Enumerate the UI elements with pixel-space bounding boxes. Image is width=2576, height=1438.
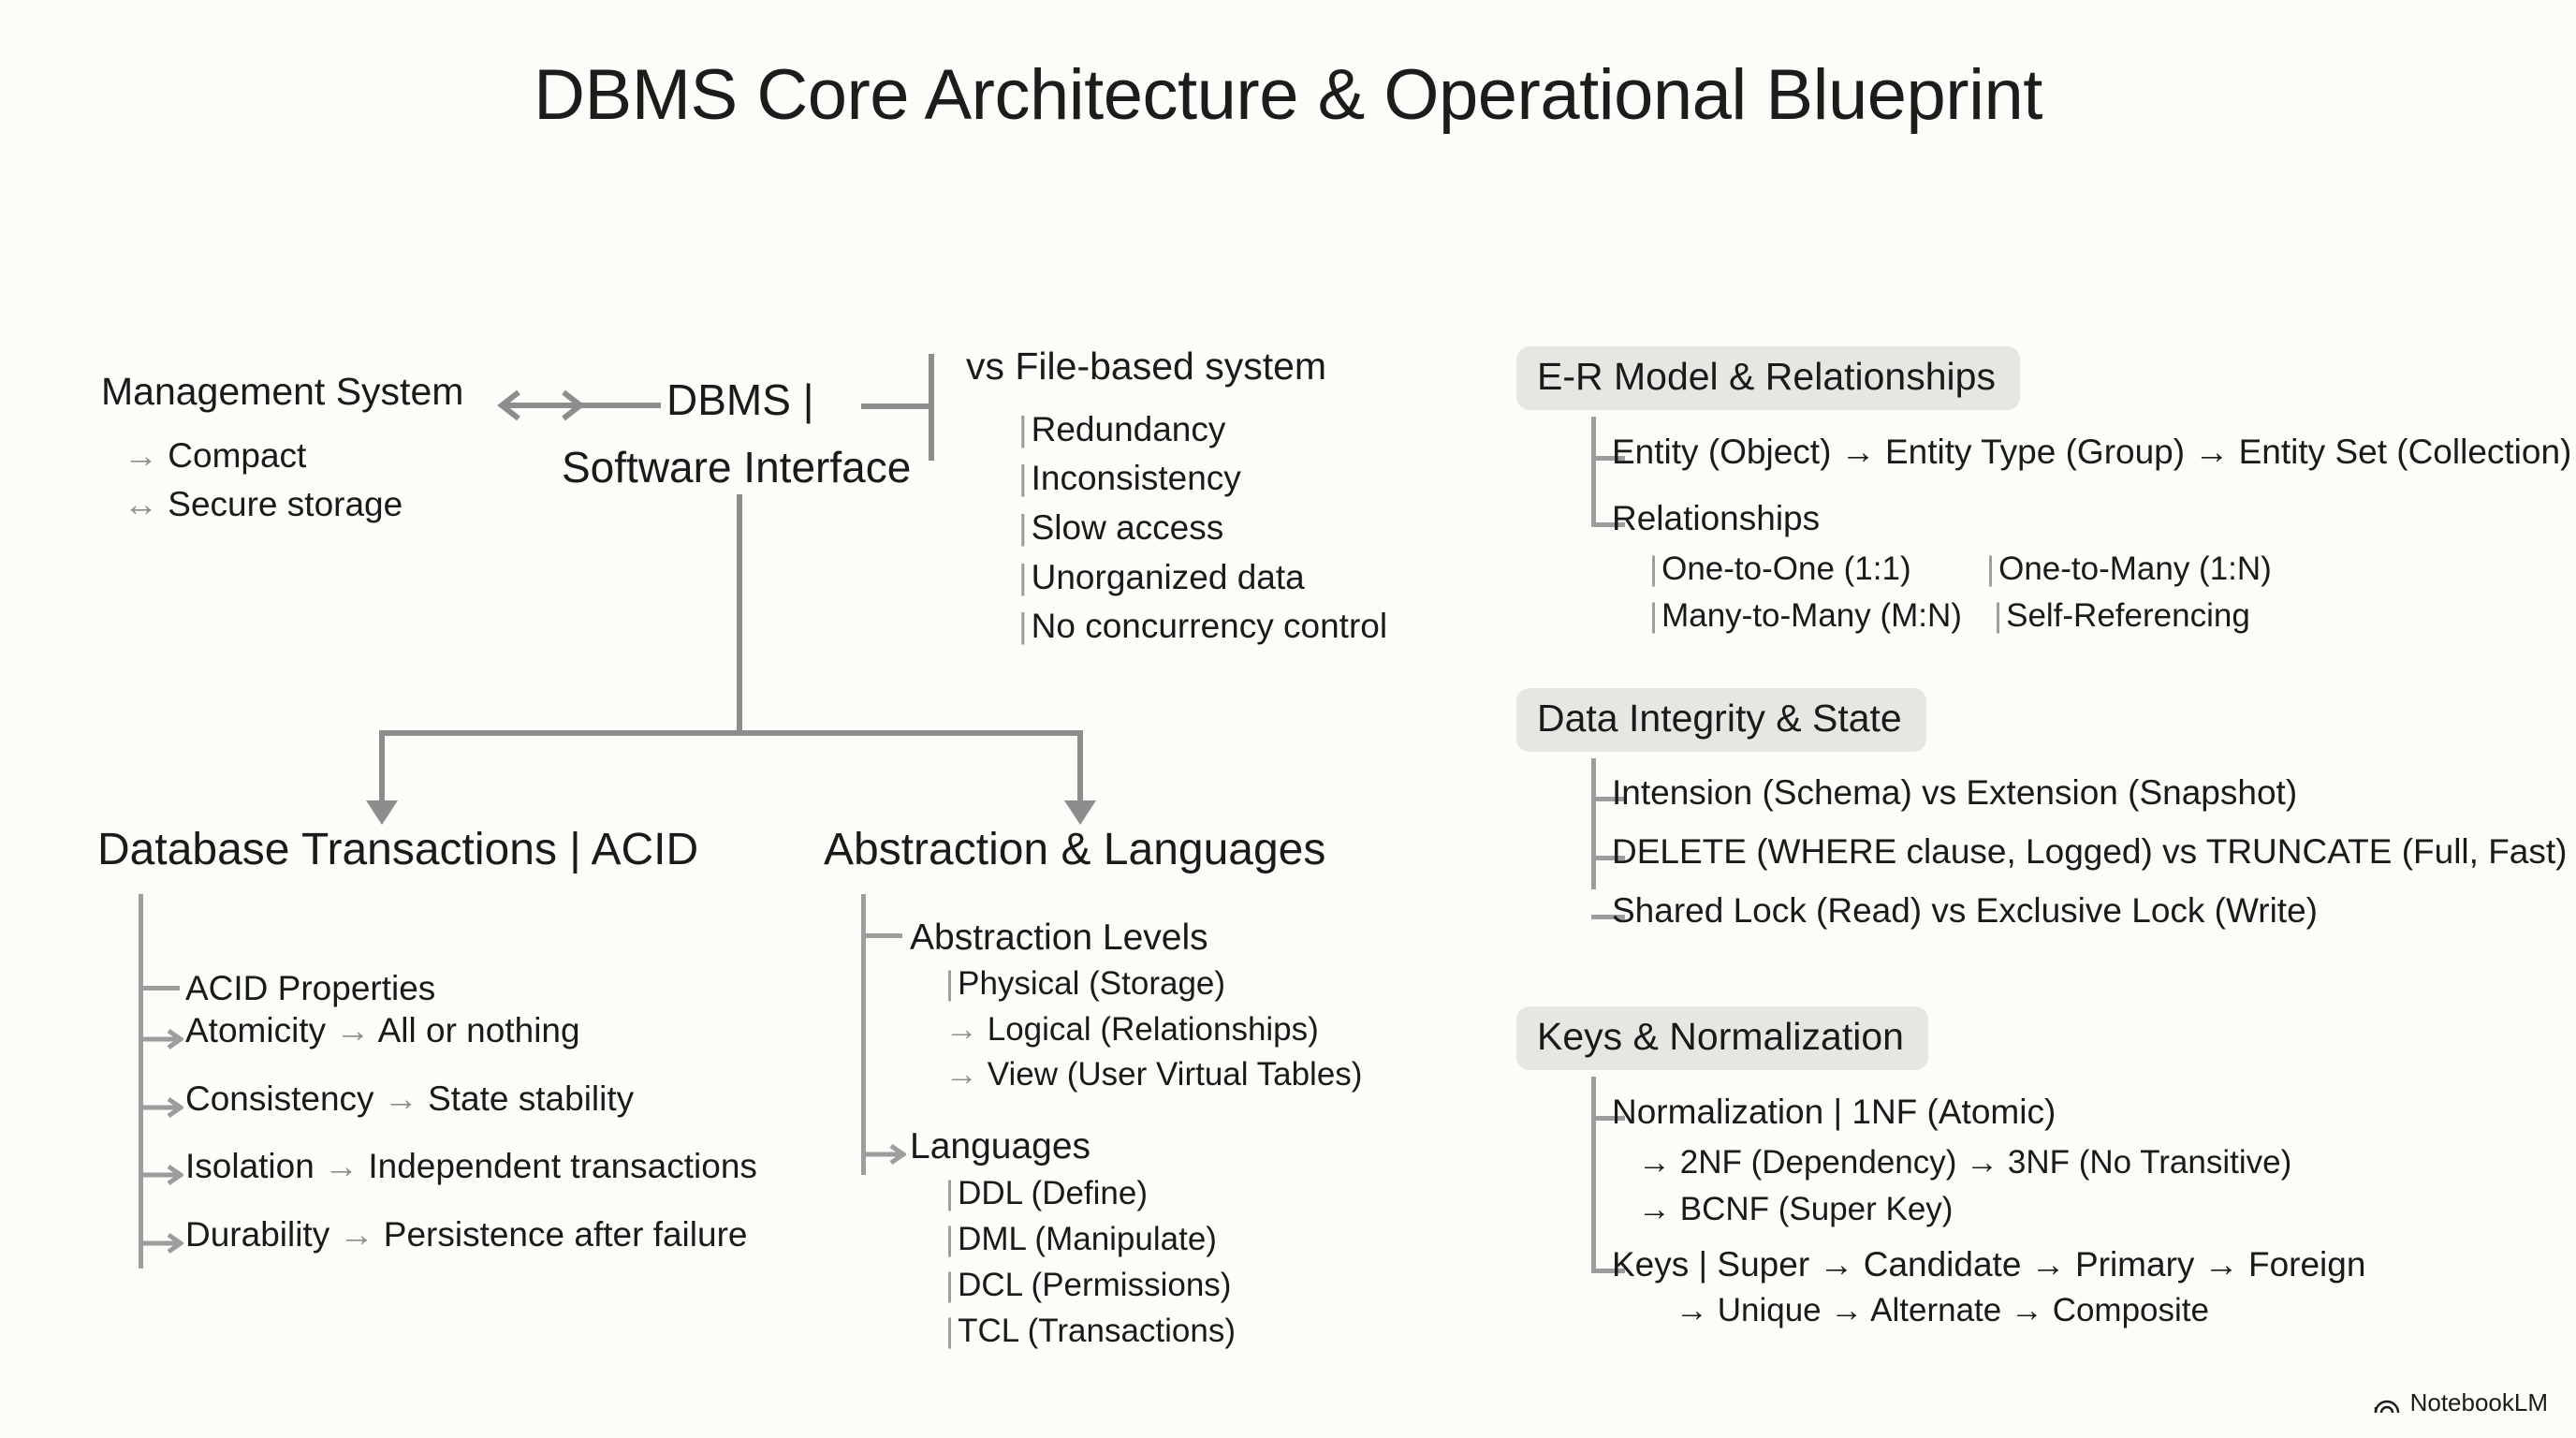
language-item: |TCL (Transactions) [945,1313,1236,1350]
root-node-line-2: Software Interface [562,442,911,492]
normalization-heading: Normalization | 1NF (Atomic) [1612,1093,2056,1132]
er-relationship-label: One-to-One (1:1) [1661,550,1911,587]
vs-file-item: |No concurrency control [1018,607,1387,646]
arrow-right-icon: → [384,1079,418,1118]
notebooklm-logo: NotebookLM [2373,1388,2548,1417]
pipe-marker-icon: | [945,965,958,1002]
branch-arrow-icon [861,1143,906,1170]
keys-normalization-chip: Keys & Normalization [1516,1006,1928,1070]
abstraction-level-label: Logical (Relationships) [988,1011,1319,1048]
pipe-marker-icon: | [1018,459,1032,497]
language-label: DDL (Define) [958,1175,1148,1211]
language-label: TCL (Transactions) [958,1313,1236,1349]
data-integrity-chip: Data Integrity & State [1516,688,1926,752]
bidirectional-arrow-icon [490,389,661,422]
acid-row: Isolation → Independent transactions [185,1147,757,1186]
acid-row-label: Consistency [185,1079,374,1118]
keys-tree-spine [1591,1077,1596,1269]
arrow-right-icon: → [324,1147,359,1185]
vs-file-item: |Unorganized data [1018,558,1305,597]
abstraction-level-label: Physical (Storage) [958,965,1225,1002]
acid-row-value: Independent transactions [368,1147,757,1185]
data-integrity-row: Shared Lock (Read) vs Exclusive Lock (Wr… [1612,891,2318,931]
page-title: DBMS Core Architecture & Operational Blu… [0,54,2576,136]
management-item-secure-storage: ↔ Secure storage [124,485,402,524]
vs-file-item-label: Unorganized data [1032,558,1305,596]
arrow-right-icon: → [335,1011,370,1049]
language-item: |DCL (Permissions) [945,1267,1231,1304]
data-integrity-tree-spine [1591,758,1596,889]
abstraction-level-label: View (User Virtual Tables) [988,1056,1363,1093]
arrow-right-icon: → [340,1215,374,1254]
acid-row: Consistency → State stability [185,1079,634,1119]
acid-tree-spine [139,894,143,1269]
pipe-marker-icon: | [1986,550,1998,587]
notebooklm-label: NotebookLM [2410,1388,2548,1417]
management-item-label: Compact [168,436,306,475]
acid-row-label: Durability [185,1215,329,1254]
normalization-sub-row: → BCNF (Super Key) [1638,1191,1953,1228]
pipe-marker-icon: | [945,1221,958,1257]
acid-row: Atomicity → All or nothing [185,1011,580,1050]
er-relationship-item: |One-to-One (1:1) [1649,550,1911,588]
arrow-down-icon [1064,800,1096,825]
arrow-right-icon: → [945,1056,978,1093]
arrow-down-icon [366,800,398,825]
acid-section-title: Database Transactions | ACID [97,824,698,875]
pipe-marker-icon: | [1018,508,1032,547]
vs-file-item: |Slow access [1018,508,1223,548]
er-relationship-label: Self-Referencing [2006,597,2250,634]
languages-heading: Languages [910,1126,1090,1167]
vs-file-item-label: Redundancy [1032,410,1226,448]
pipe-marker-icon: | [1649,597,1661,634]
language-item: |DDL (Define) [945,1175,1148,1212]
er-relationship-item: |One-to-Many (1:N) [1986,550,2272,588]
management-system-title: Management System [101,370,463,414]
abstraction-section-title: Abstraction & Languages [824,824,1325,875]
abstraction-level-item: → Logical (Relationships) [945,1011,1319,1049]
acid-row: ACID Properties [185,969,435,1008]
vs-file-item: |Redundancy [1018,410,1225,449]
pipe-marker-icon: | [945,1175,958,1211]
language-label: DCL (Permissions) [958,1267,1231,1303]
notebooklm-glyph-icon [2373,1391,2401,1416]
connector-down-left [379,730,385,803]
connector-horizontal-split [379,730,1083,736]
data-integrity-row: DELETE (WHERE clause, Logged) vs TRUNCAT… [1612,832,2567,872]
pipe-marker-icon: | [1018,558,1032,596]
branch-arrow-icon [139,1096,183,1123]
abstraction-level-item: → View (User Virtual Tables) [945,1056,1362,1093]
branch-arrow-icon [139,1028,183,1055]
connector-vertical-vs-file [929,354,934,461]
acid-row-label: ACID Properties [185,969,435,1007]
connector-down-right [1077,730,1083,803]
acid-row-value: All or nothing [378,1011,580,1049]
acid-row-label: Atomicity [185,1011,326,1049]
keys-heading: Keys | Super → Candidate → Primary → For… [1612,1245,2365,1284]
pipe-marker-icon: | [1649,550,1661,587]
acid-row-value: Persistence after failure [384,1215,748,1254]
vs-file-item-label: Slow access [1032,508,1224,547]
vs-file-item-label: Inconsistency [1032,459,1241,497]
tree-tick [139,986,180,990]
er-tree-spine [1591,417,1596,524]
pipe-marker-icon: | [945,1267,958,1303]
connector-root-stem [737,494,742,736]
er-relationship-item: |Self-Referencing [1994,597,2250,635]
language-label: DML (Manipulate) [958,1221,1217,1257]
acid-row-label: Isolation [185,1147,315,1185]
branch-arrow-icon [139,1164,183,1191]
acid-row: Durability → Persistence after failure [185,1215,747,1255]
arrow-right-icon: → [124,436,158,475]
acid-row-value: State stability [428,1079,634,1118]
abstraction-level-item: |Physical (Storage) [945,965,1225,1003]
vs-file-item: |Inconsistency [1018,459,1241,498]
pipe-marker-icon: | [1018,607,1032,645]
keys-sub-row: → Unique → Alternate → Composite [1676,1292,2209,1329]
management-item-label: Secure storage [168,485,402,523]
management-item-compact: → Compact [124,436,306,476]
vs-file-based-title: vs File-based system [966,345,1326,389]
branch-arrow-icon [139,1232,183,1259]
arrow-left-right-icon: ↔ [124,485,158,523]
data-integrity-row: Intension (Schema) vs Extension (Snapsho… [1612,773,2297,813]
pipe-marker-icon: | [945,1313,958,1349]
arrow-right-icon: → [945,1011,978,1048]
vs-file-item-label: No concurrency control [1032,607,1387,645]
root-node-line-1: DBMS | [666,374,814,425]
pipe-marker-icon: | [1018,410,1032,448]
connector-horizontal-vs-file [861,404,930,409]
language-item: |DML (Manipulate) [945,1221,1217,1258]
tree-tick [861,933,902,938]
er-relationship-item: |Many-to-Many (M:N) [1649,597,1962,635]
pipe-marker-icon: | [1994,597,2006,634]
abstraction-levels-heading: Abstraction Levels [910,917,1208,959]
er-relationship-label: One-to-Many (1:N) [1998,550,2272,587]
er-model-chip: E-R Model & Relationships [1516,346,2020,410]
er-relationship-label: Many-to-Many (M:N) [1661,597,1962,634]
er-entity-chain: Entity (Object) → Entity Type (Group) → … [1612,433,2571,472]
er-relationships-heading: Relationships [1612,499,1820,538]
normalization-sub-row: → 2NF (Dependency) → 3NF (No Transitive) [1638,1144,2291,1181]
